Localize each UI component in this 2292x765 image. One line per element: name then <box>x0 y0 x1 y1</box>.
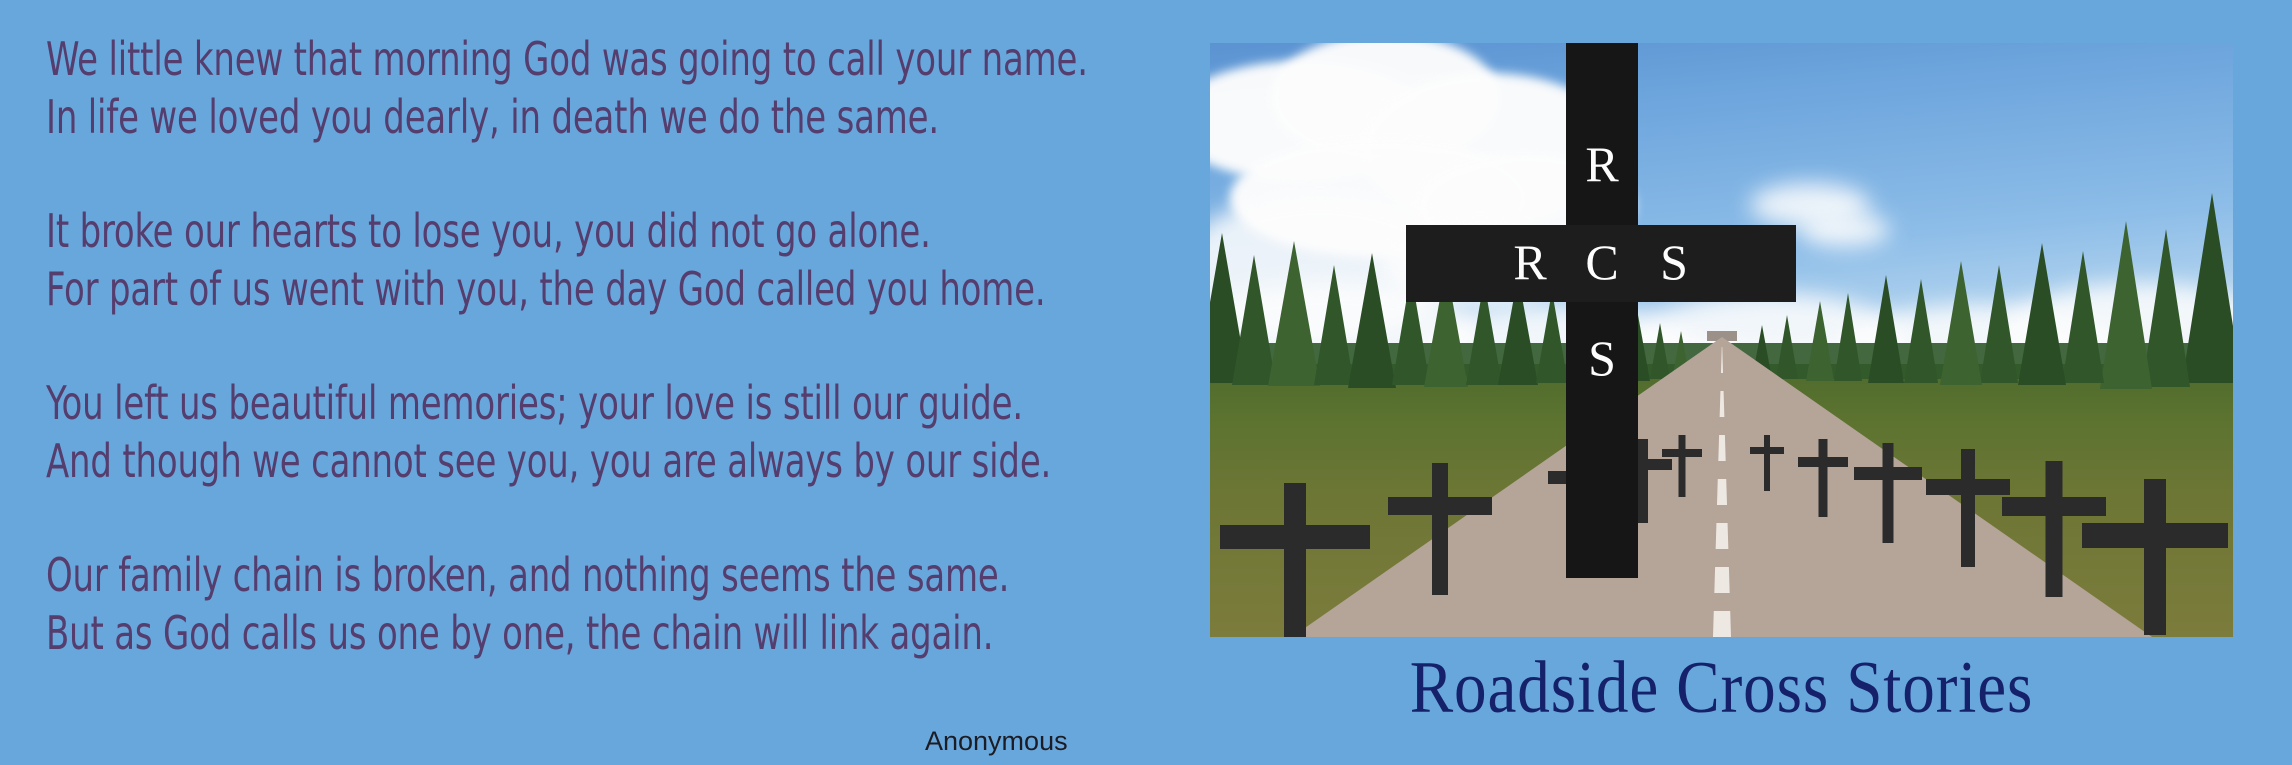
poem-line: For part of us went with you, the day Go… <box>46 260 997 318</box>
roadside-cross <box>1548 447 1620 547</box>
poem-line: It broke our hearts to lose you, you did… <box>46 202 997 260</box>
roadside-cross <box>1662 435 1702 497</box>
roadside-cross <box>1926 449 2010 567</box>
roadside-cross <box>1220 483 1370 637</box>
poem-stanza: Our family chain is broken, and nothing … <box>46 546 1206 662</box>
poem-line: And though we cannot see you, you are al… <box>46 432 997 490</box>
poem-line: You left us beautiful memories; your lov… <box>46 374 997 432</box>
poem-text-block: We little knew that morning God was goin… <box>46 30 1206 662</box>
poem-line: But as God calls us one by one, the chai… <box>46 604 997 662</box>
poem-line: We little knew that morning God was goin… <box>46 30 997 88</box>
site-title: Roadside Cross Stories <box>1271 646 2171 730</box>
roadside-cross <box>1854 443 1922 543</box>
logo-panel: R R C S S Roadside Cross Stories <box>1210 0 2292 765</box>
poem-stanza: You left us beautiful memories; your lov… <box>46 374 1206 490</box>
cloud <box>1800 213 1890 247</box>
poem-line: Our family chain is broken, and nothing … <box>46 546 997 604</box>
poem-panel: We little knew that morning God was goin… <box>0 0 1210 765</box>
roadside-cross <box>1388 463 1492 595</box>
roadside-crosses-photo: R R C S S <box>1210 43 2233 637</box>
road-center-line <box>1713 339 1731 637</box>
roadside-cross <box>1750 435 1784 491</box>
roadside-cross <box>1798 439 1848 517</box>
poem-stanza: It broke our hearts to lose you, you did… <box>46 202 1206 318</box>
poem-stanza: We little knew that morning God was goin… <box>46 30 1206 146</box>
poem-line: In life we loved you dearly, in death we… <box>46 88 997 146</box>
roadside-cross <box>2082 479 2228 635</box>
poem-attribution: Anonymous <box>925 726 1068 756</box>
